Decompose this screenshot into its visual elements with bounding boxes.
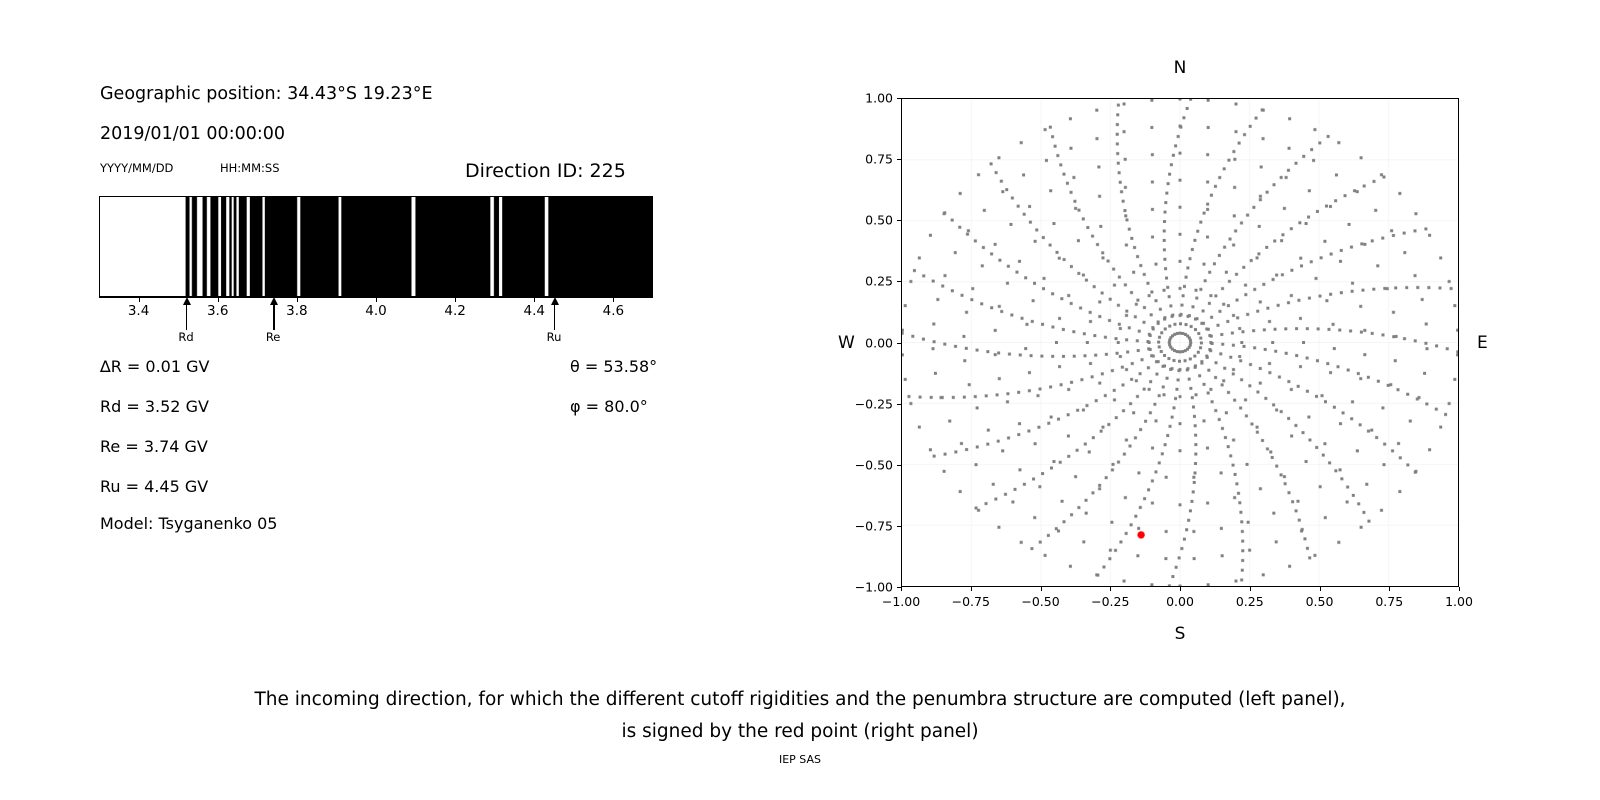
grid-x-tick-label: 1.00 bbox=[1445, 594, 1473, 609]
left-panel: Geographic position: 34.43°S 19.23°E 201… bbox=[0, 0, 800, 660]
grid-y-tick-label: −0.50 bbox=[843, 457, 893, 472]
grid-y-tick-label: −0.75 bbox=[843, 518, 893, 533]
right-panel bbox=[800, 0, 1600, 660]
time-format-hint: HH:MM:SS bbox=[220, 161, 280, 175]
grid-x-tick-label: 0.25 bbox=[1236, 594, 1264, 609]
param-re: Re = 3.74 GV bbox=[100, 437, 208, 456]
penumbra-x-tick bbox=[613, 297, 614, 302]
grid-y-tick-label: 1.00 bbox=[843, 91, 893, 106]
grid-y-tick bbox=[897, 587, 901, 588]
grid-y-tick bbox=[897, 526, 901, 527]
grid-x-tick bbox=[1389, 587, 1390, 591]
penumbra-x-tick-label: 4.6 bbox=[603, 303, 624, 319]
penumbra-x-tick-label: 4.0 bbox=[365, 303, 386, 319]
rigidity-marker-label-re: Re bbox=[266, 330, 281, 344]
grid-y-tick bbox=[897, 281, 901, 282]
penumbra-x-tick-label: 3.8 bbox=[286, 303, 307, 319]
grid-x-tick bbox=[1041, 587, 1042, 591]
grid-x-tick-label: −0.25 bbox=[1091, 594, 1129, 609]
cardinal-label-north: N bbox=[1174, 58, 1187, 78]
cardinal-label-south: S bbox=[1175, 624, 1186, 644]
grid-x-tick bbox=[901, 587, 902, 591]
grid-y-tick-label: 0.25 bbox=[843, 274, 893, 289]
penumbra-x-tick bbox=[455, 297, 456, 302]
grid-y-tick bbox=[897, 343, 901, 344]
param-model: Model: Tsyganenko 05 bbox=[100, 514, 277, 533]
caption-line-1: The incoming direction, for which the di… bbox=[0, 684, 1600, 716]
grid-y-tick-label: 0.50 bbox=[843, 213, 893, 228]
date-format-hint: YYYY/MM/DD bbox=[100, 161, 173, 175]
penumbra-x-tick-label: 4.2 bbox=[444, 303, 465, 319]
penumbra-x-tick bbox=[376, 297, 377, 302]
direction-grid-plot bbox=[901, 98, 1459, 587]
cardinal-label-west: W bbox=[838, 333, 855, 353]
rigidity-marker-arrow-rd bbox=[186, 304, 187, 330]
grid-y-tick-label: 0.75 bbox=[843, 152, 893, 167]
penumbra-x-tick bbox=[139, 297, 140, 302]
penumbra-x-tick bbox=[534, 297, 535, 302]
grid-y-tick bbox=[897, 404, 901, 405]
figure-caption: The incoming direction, for which the di… bbox=[0, 684, 1600, 748]
grid-x-tick bbox=[1459, 587, 1460, 591]
penumbra-canvas bbox=[100, 197, 652, 296]
grid-x-tick-label: 0.00 bbox=[1166, 594, 1194, 609]
param-ru: Ru = 4.45 GV bbox=[100, 477, 208, 496]
geographic-position-text: Geographic position: 34.43°S 19.23°E bbox=[100, 84, 433, 104]
grid-x-tick-label: −1.00 bbox=[882, 594, 920, 609]
grid-y-tick-label: −1.00 bbox=[843, 580, 893, 595]
param-phi: φ = 80.0° bbox=[570, 397, 648, 416]
penumbra-x-tick bbox=[297, 297, 298, 302]
grid-x-tick-label: 0.75 bbox=[1375, 594, 1403, 609]
rigidity-marker-arrow-re bbox=[273, 304, 274, 330]
direction-grid-canvas bbox=[902, 99, 1458, 586]
penumbra-bar-chart bbox=[99, 196, 653, 297]
rigidity-marker-label-rd: Rd bbox=[178, 330, 193, 344]
param-rd: Rd = 3.52 GV bbox=[100, 397, 209, 416]
penumbra-x-tick-label: 4.4 bbox=[524, 303, 545, 319]
penumbra-x-tick-label: 3.6 bbox=[207, 303, 228, 319]
grid-x-tick bbox=[1320, 587, 1321, 591]
direction-id-text: Direction ID: 225 bbox=[465, 160, 626, 182]
caption-line-2: is signed by the red point (right panel) bbox=[0, 716, 1600, 748]
grid-x-tick bbox=[1110, 587, 1111, 591]
rigidity-marker-arrow-ru bbox=[554, 304, 555, 330]
grid-x-tick bbox=[1180, 587, 1181, 591]
grid-x-tick bbox=[971, 587, 972, 591]
datetime-text: 2019/01/01 00:00:00 bbox=[100, 124, 285, 144]
grid-y-tick bbox=[897, 159, 901, 160]
grid-y-tick bbox=[897, 98, 901, 99]
param-theta: θ = 53.58° bbox=[570, 357, 657, 376]
grid-x-tick bbox=[1250, 587, 1251, 591]
cardinal-label-east: E bbox=[1477, 333, 1488, 353]
grid-y-tick bbox=[897, 465, 901, 466]
footer-credit: IEP SAS bbox=[0, 753, 1600, 766]
grid-x-tick-label: 0.50 bbox=[1306, 594, 1334, 609]
grid-x-tick-label: −0.75 bbox=[952, 594, 990, 609]
param-delta-r: ∆R = 0.01 GV bbox=[100, 357, 209, 376]
grid-y-tick bbox=[897, 220, 901, 221]
penumbra-x-tick-label: 3.4 bbox=[128, 303, 149, 319]
penumbra-x-tick bbox=[218, 297, 219, 302]
rigidity-marker-label-ru: Ru bbox=[547, 330, 562, 344]
grid-y-tick-label: −0.25 bbox=[843, 396, 893, 411]
grid-x-tick-label: −0.50 bbox=[1021, 594, 1059, 609]
